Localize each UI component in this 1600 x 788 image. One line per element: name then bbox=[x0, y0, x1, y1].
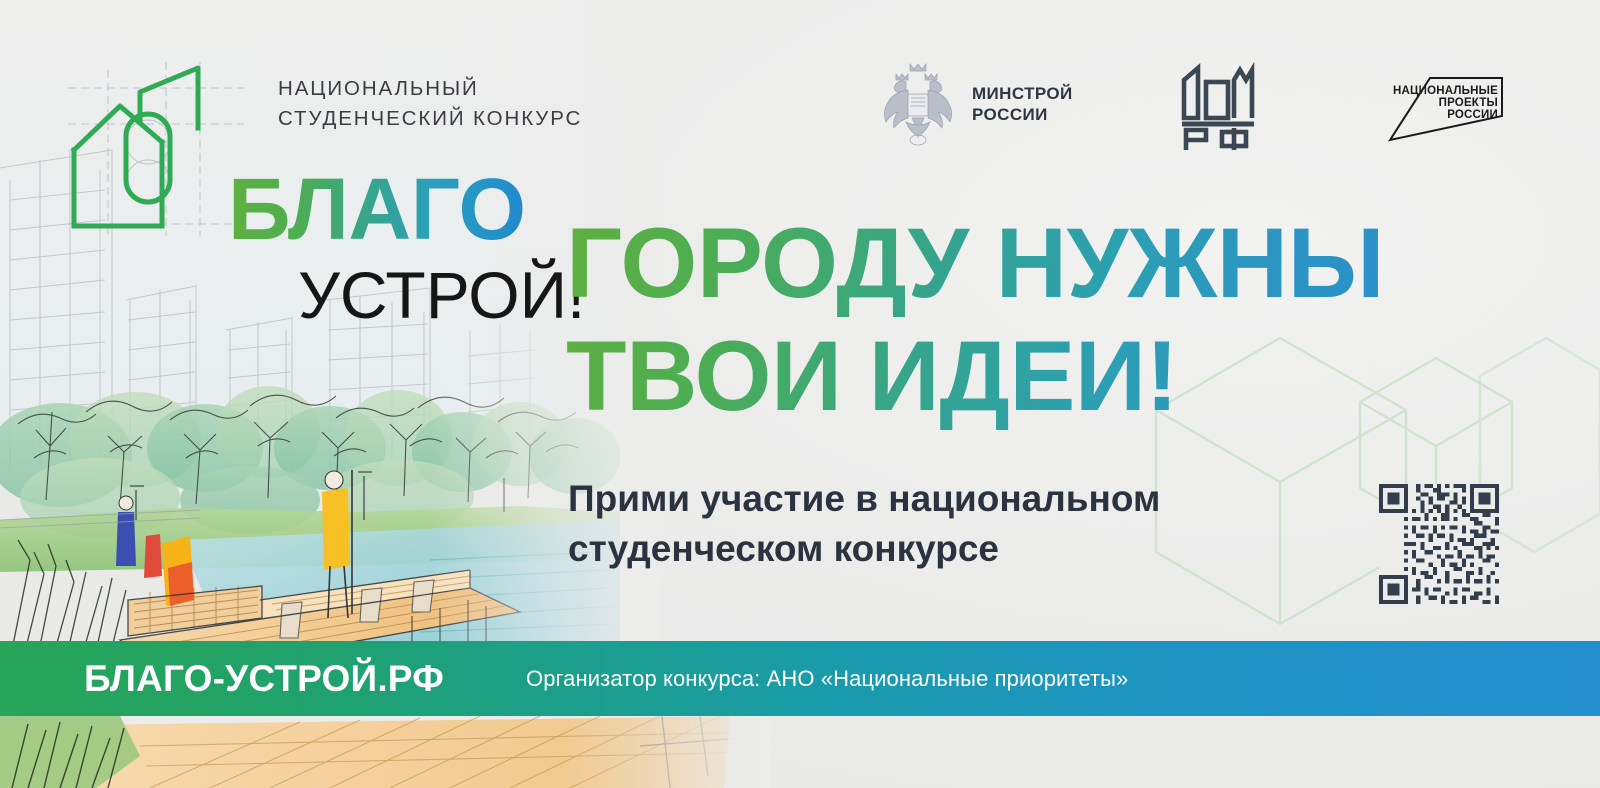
headline: ГОРОДУ НУЖНЫ ТВОИ ИДЕИ! bbox=[566, 206, 1546, 432]
qr-code[interactable] bbox=[1379, 484, 1499, 604]
partner-minstroy-line2: РОССИИ bbox=[972, 104, 1073, 125]
logo-tagline-line1: НАЦИОНАЛЬНЫЙ bbox=[278, 74, 578, 104]
partner-minstroy-text: МИНСТРОЙ РОССИИ bbox=[972, 83, 1073, 125]
organizer-text: Организатор конкурса: АНО «Национальные … bbox=[526, 666, 1128, 692]
npr-line3: РОССИИ bbox=[1447, 109, 1498, 121]
logo-tagline-line2: СТУДЕНЧЕСКИЙ КОНКУРС bbox=[278, 104, 578, 134]
site-domain[interactable]: БЛАГО-УСТРОЙ.РФ bbox=[84, 658, 444, 700]
logo-tagline: НАЦИОНАЛЬНЫЙ СТУДЕНЧЕСКИЙ КОНКУРС bbox=[278, 74, 578, 134]
logo-word-blago: БЛАГО bbox=[228, 166, 526, 253]
partner-minstroy[interactable]: МИНСТРОЙ РОССИИ bbox=[878, 60, 1073, 148]
bottom-bar: БЛАГО-УСТРОЙ.РФ Организатор конкурса: АН… bbox=[0, 641, 1600, 716]
partner-national-projects[interactable]: НАЦИОНАЛЬНЫЕ ПРОЕКТЫ РОССИИ bbox=[1386, 56, 1506, 146]
npr-line1: НАЦИОНАЛЬНЫЕ bbox=[1393, 85, 1498, 97]
national-projects-flag-icon: НАЦИОНАЛЬНЫЕ ПРОЕКТЫ РОССИИ bbox=[1386, 56, 1506, 146]
partner-domrf[interactable] bbox=[1178, 58, 1258, 150]
logo-word-ustroy: УСТРОЙ! bbox=[298, 262, 585, 328]
partner-minstroy-line1: МИНСТРОЙ bbox=[972, 83, 1073, 104]
partner-logos: МИНСТРОЙ РОССИИ bbox=[878, 52, 1518, 157]
brand-logo[interactable]: НАЦИОНАЛЬНЫЙ СТУДЕНЧЕСКИЙ КОНКУРС БЛАГО … bbox=[62, 48, 532, 298]
russian-coat-of-arms-icon bbox=[878, 60, 958, 148]
dom-rf-logo-icon bbox=[1178, 58, 1258, 150]
subtitle: Прими участие в национальном студенческо… bbox=[568, 474, 1328, 574]
npr-line2: ПРОЕКТЫ bbox=[1439, 97, 1498, 109]
promo-banner: НАЦИОНАЛЬНЫЙ СТУДЕНЧЕСКИЙ КОНКУРС БЛАГО … bbox=[0, 0, 1600, 788]
